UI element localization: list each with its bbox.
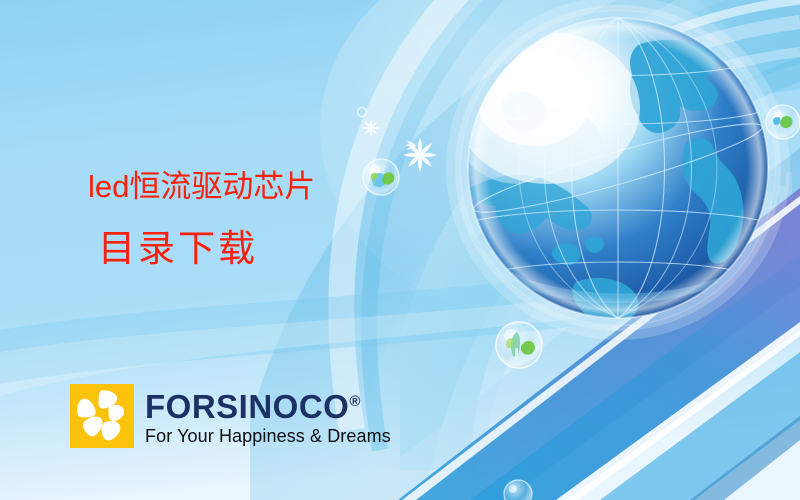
- starburst-small: [361, 118, 380, 137]
- headline-line-2: 目录下载: [98, 228, 315, 272]
- pinwheel-petals-icon: [70, 384, 134, 448]
- promotional-banner: led恒流驱动芯片 目录下载: [0, 0, 800, 500]
- logo-wordmark-text: FORSINOCO: [145, 388, 349, 425]
- headline-line-1: led恒流驱动芯片: [88, 168, 315, 206]
- bubble-with-green-leaf: [496, 322, 542, 368]
- logo-wordmark: FORSINOCO®: [145, 385, 391, 423]
- starburst-large: [403, 138, 437, 172]
- logo-text-block: FORSINOCO® For Your Happiness & Dreams: [145, 385, 391, 446]
- registered-trademark-symbol: ®: [349, 393, 360, 410]
- forsinoco-pinwheel-logo-icon: [70, 384, 134, 448]
- company-logo: FORSINOCO® For Your Happiness & Dreams: [70, 384, 391, 448]
- bubble-right-edge: [766, 105, 800, 139]
- bubble-with-green-globe: [363, 159, 399, 195]
- logo-tagline: For Your Happiness & Dreams: [145, 426, 391, 446]
- headline-block: led恒流驱动芯片 目录下载: [88, 168, 315, 272]
